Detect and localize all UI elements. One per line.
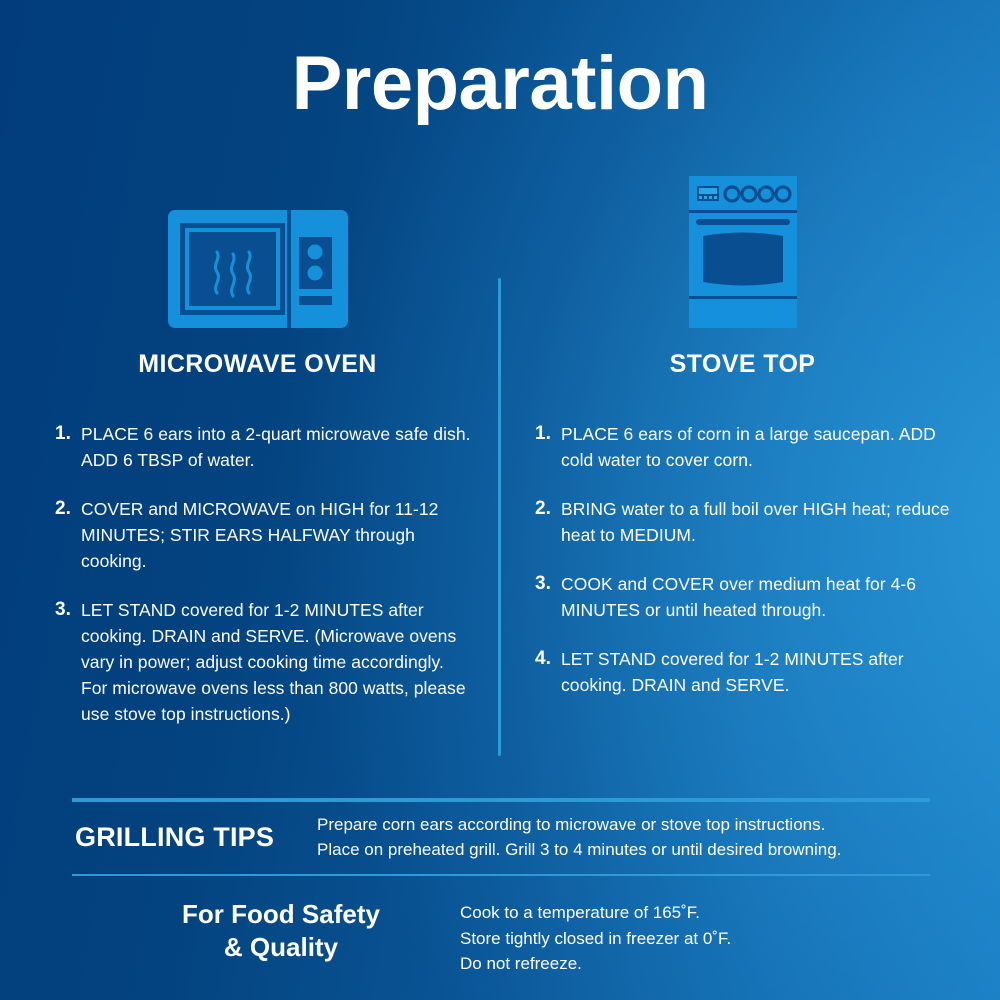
column-divider	[498, 278, 501, 756]
steps-stove-top: 1. PLACE 6 ears of corn in a large sauce…	[515, 421, 970, 698]
microwave-oven-icon	[30, 168, 485, 328]
step-number: 1.	[535, 421, 561, 473]
list-item: 1. PLACE 6 ears into a 2-quart microwave…	[55, 421, 475, 473]
grilling-tips-label: GRILLING TIPS	[72, 822, 317, 853]
food-safety-label-line-1: For Food Safety	[120, 898, 442, 931]
step-text: PLACE 6 ears into a 2-quart microwave sa…	[81, 421, 475, 473]
divider-bottom	[72, 874, 930, 876]
step-number: 2.	[55, 496, 81, 574]
grilling-tips-text: Prepare corn ears according to microwave…	[317, 812, 841, 862]
food-safety-text: Cook to a temperature of 165˚F. Store ti…	[460, 898, 731, 977]
list-item: 4. LET STAND covered for 1-2 MINUTES aft…	[535, 646, 966, 698]
list-item: 3. LET STAND covered for 1-2 MINUTES aft…	[55, 597, 475, 727]
page-title: Preparation	[0, 46, 1000, 122]
list-item: 2. COVER and MICROWAVE on HIGH for 11-12…	[55, 496, 475, 574]
step-text: COOK and COVER over medium heat for 4-6 …	[561, 571, 966, 623]
grilling-tips-line-2: Place on preheated grill. Grill 3 to 4 m…	[317, 837, 841, 862]
column-microwave-oven: MICROWAVE OVEN 1. PLACE 6 ears into a 2-…	[30, 168, 485, 750]
food-safety-line-3: Do not refreeze.	[460, 951, 731, 977]
column-heading-stove-top: STOVE TOP	[515, 350, 970, 379]
column-stove-top: STOVE TOP 1. PLACE 6 ears of corn in a l…	[515, 168, 970, 721]
food-safety-section: For Food Safety & Quality Cook to a temp…	[120, 898, 900, 977]
food-safety-label: For Food Safety & Quality	[120, 898, 460, 964]
food-safety-label-line-2: & Quality	[120, 931, 442, 964]
preparation-panel: Preparation	[0, 0, 1000, 1000]
step-number: 4.	[535, 646, 561, 698]
steps-microwave: 1. PLACE 6 ears into a 2-quart microwave…	[30, 421, 485, 727]
column-heading-microwave: MICROWAVE OVEN	[30, 350, 485, 379]
step-text: LET STAND covered for 1-2 MINUTES after …	[81, 597, 475, 727]
list-item: 3. COOK and COVER over medium heat for 4…	[535, 571, 966, 623]
step-text: COVER and MICROWAVE on HIGH for 11-12 MI…	[81, 496, 475, 574]
step-number: 3.	[535, 571, 561, 623]
step-number: 3.	[55, 597, 81, 727]
grilling-tips-line-1: Prepare corn ears according to microwave…	[317, 812, 841, 837]
step-text: PLACE 6 ears of corn in a large saucepan…	[561, 421, 966, 473]
food-safety-line-2: Store tightly closed in freezer at 0˚F.	[460, 926, 731, 952]
grilling-tips-section: GRILLING TIPS Prepare corn ears accordin…	[72, 798, 930, 876]
stove-top-icon	[515, 168, 970, 328]
step-text: BRING water to a full boil over HIGH hea…	[561, 496, 966, 548]
list-item: 1. PLACE 6 ears of corn in a large sauce…	[535, 421, 966, 473]
list-item: 2. BRING water to a full boil over HIGH …	[535, 496, 966, 548]
step-number: 2.	[535, 496, 561, 548]
food-safety-line-1: Cook to a temperature of 165˚F.	[460, 900, 731, 926]
step-text: LET STAND covered for 1-2 MINUTES after …	[561, 646, 966, 698]
step-number: 1.	[55, 421, 81, 473]
